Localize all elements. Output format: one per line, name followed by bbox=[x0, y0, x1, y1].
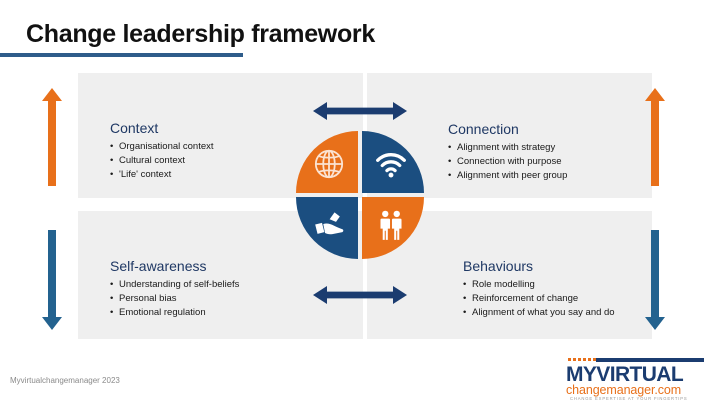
arrow-bottom-horizontal bbox=[313, 284, 407, 306]
two-people-icon bbox=[374, 209, 408, 243]
list-item: Reinforcement of change bbox=[463, 292, 615, 306]
title-underline-rule bbox=[0, 53, 243, 57]
quadrant-bullets-behaviours: Role modelling Reinforcement of change A… bbox=[463, 278, 615, 320]
quadrant-heading-self-awareness: Self-awareness bbox=[110, 258, 239, 274]
hand-diamond-icon bbox=[312, 209, 346, 243]
wifi-icon bbox=[374, 147, 408, 181]
brand-logo: MYVIRTUAL changemanager.com CHANGE EXPER… bbox=[556, 356, 706, 402]
logo-dots-decoration bbox=[568, 358, 596, 361]
quadrant-connection: Connection Alignment with strategy Conne… bbox=[448, 121, 567, 183]
list-item: 'Life' context bbox=[110, 168, 214, 182]
logo-sub-text: changemanager.com bbox=[566, 383, 681, 397]
wheel-wedge-self-awareness bbox=[296, 197, 358, 259]
list-item: Understanding of self-beliefs bbox=[110, 278, 239, 292]
quadrant-heading-context: Context bbox=[110, 120, 214, 136]
arrow-left-down bbox=[41, 230, 63, 330]
wheel-wedge-connection bbox=[362, 131, 424, 193]
logo-rule-decoration bbox=[596, 358, 704, 362]
quadrant-bullets-context: Organisational context Cultural context … bbox=[110, 140, 214, 182]
list-item: Cultural context bbox=[110, 154, 214, 168]
list-item: Alignment with peer group bbox=[448, 169, 567, 183]
wheel-wedge-context bbox=[296, 131, 358, 193]
arrow-top-horizontal bbox=[313, 100, 407, 122]
quadrant-bullets-self-awareness: Understanding of self-beliefs Personal b… bbox=[110, 278, 239, 320]
footer-credit: Myvirtualchangemanager 2023 bbox=[10, 376, 120, 385]
list-item: Alignment of what you say and do bbox=[463, 306, 615, 320]
logo-tagline-text: CHANGE EXPERTISE AT YOUR FINGERTIPS bbox=[570, 396, 688, 401]
arrow-right-up bbox=[644, 88, 666, 186]
quadrant-self-awareness: Self-awareness Understanding of self-bel… bbox=[110, 258, 239, 320]
list-item: Organisational context bbox=[110, 140, 214, 154]
list-item: Personal bias bbox=[110, 292, 239, 306]
quadrant-heading-connection: Connection bbox=[448, 121, 567, 137]
page-title: Change leadership framework bbox=[26, 20, 375, 49]
arrow-right-down bbox=[644, 230, 666, 330]
list-item: Emotional regulation bbox=[110, 306, 239, 320]
wheel-wedge-behaviours bbox=[362, 197, 424, 259]
quadrant-heading-behaviours: Behaviours bbox=[463, 258, 615, 274]
quadrant-behaviours: Behaviours Role modelling Reinforcement … bbox=[463, 258, 615, 320]
globe-icon bbox=[312, 147, 346, 181]
center-wheel-diagram bbox=[296, 131, 424, 259]
list-item: Connection with purpose bbox=[448, 155, 567, 169]
list-item: Role modelling bbox=[463, 278, 615, 292]
quadrant-bullets-connection: Alignment with strategy Connection with … bbox=[448, 141, 567, 183]
quadrant-context: Context Organisational context Cultural … bbox=[110, 120, 214, 182]
arrow-left-up bbox=[41, 88, 63, 186]
list-item: Alignment with strategy bbox=[448, 141, 567, 155]
